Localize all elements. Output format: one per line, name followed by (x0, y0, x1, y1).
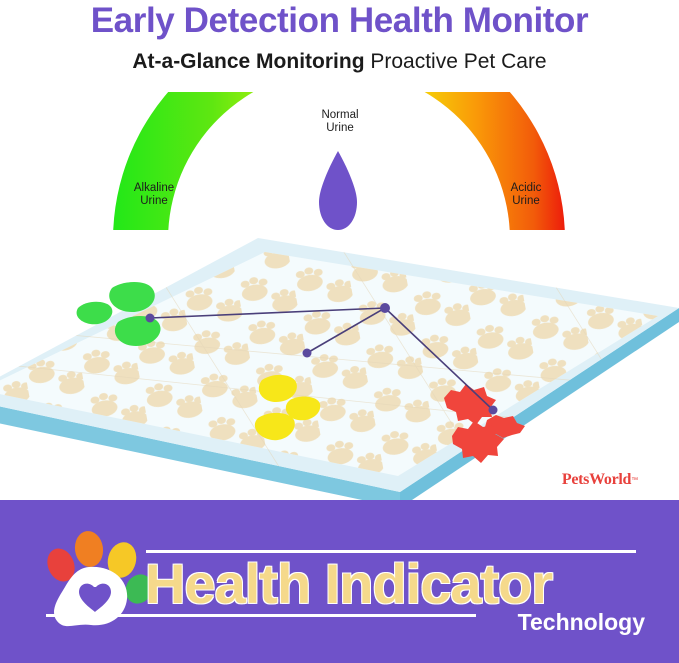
banner-subline: Technology (0, 609, 645, 636)
node-alkaline (146, 314, 155, 323)
subtitle-strong: At-a-Glance Monitoring (132, 50, 364, 73)
training-pad-photo: PetsWorld™ (0, 230, 679, 500)
gauge-label-normal: Normal Urine (288, 109, 392, 135)
paw-toe-orange (73, 529, 106, 569)
node-normal (303, 349, 312, 358)
gauge-label-alkaline: Alkaline Urine (110, 182, 198, 208)
product-infographic: Early Detection Health Monitor At-a-Glan… (0, 0, 679, 663)
banner-inner: Health Indicator Technology (0, 500, 679, 663)
health-indicator-banner: Health Indicator Technology (0, 500, 679, 663)
pad-illustration (0, 230, 679, 500)
gauge-label-alkaline-line1: Alkaline (110, 182, 198, 195)
petsworld-wordmark: PetsWorld (562, 471, 631, 489)
gauge-label-normal-line2: Urine (288, 122, 392, 135)
page-subtitle: At-a-Glance Monitoring Proactive Pet Car… (0, 50, 679, 74)
gauge-label-alkaline-line2: Urine (110, 195, 198, 208)
gauge-label-acidic-line2: Urine (482, 195, 570, 208)
page-title: Early Detection Health Monitor (0, 1, 679, 41)
petsworld-logo: PetsWorld™ (538, 466, 662, 494)
node-vertex (380, 303, 390, 313)
gauge-label-acidic: Acidic Urine (482, 182, 570, 208)
ph-gauge: Normal Urine Alkaline Urine Acidic Urine (0, 92, 679, 247)
urine-droplet-icon (313, 150, 363, 232)
node-acidic (489, 406, 498, 415)
header: Early Detection Health Monitor At-a-Glan… (0, 0, 679, 92)
subtitle-light: Proactive Pet Care (365, 50, 547, 73)
gauge-label-acidic-line1: Acidic (482, 182, 570, 195)
gauge-label-normal-line1: Normal (288, 109, 392, 122)
trademark-symbol: ™ (631, 477, 638, 484)
banner-headline: Health Indicator (145, 550, 665, 616)
